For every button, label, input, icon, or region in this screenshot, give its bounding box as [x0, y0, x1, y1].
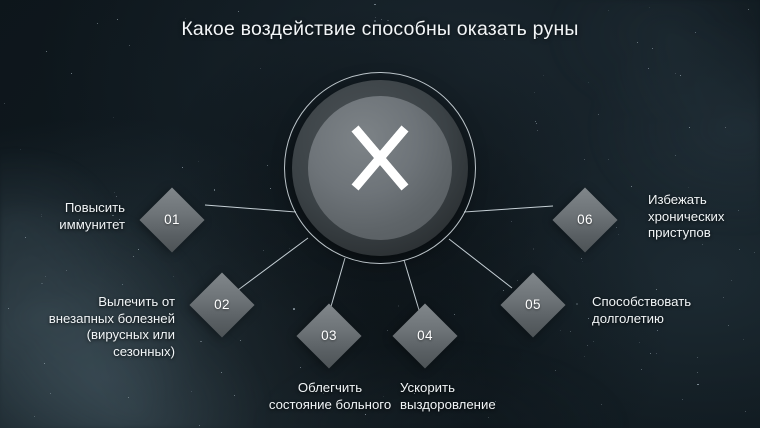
slide-canvas: Какое воздействие способны оказать руны — [0, 0, 760, 428]
connector-line-01 — [205, 205, 296, 212]
diamond-number-02: 02 — [199, 282, 245, 328]
diamond-05[interactable]: 05 — [500, 272, 565, 337]
label-05: Способствовать долголетию — [592, 294, 757, 327]
label-03: Облегчить состояние больного — [240, 380, 420, 413]
label-02: Вылечить от внезапных болезней (вирусных… — [0, 294, 175, 360]
label-01: Повысить иммунитет — [0, 200, 125, 233]
diamond-04[interactable]: 04 — [392, 303, 457, 368]
diamond-number-06: 06 — [562, 197, 608, 243]
connector-line-03 — [330, 258, 345, 310]
diamond-06[interactable]: 06 — [552, 187, 617, 252]
center-circle-ring — [284, 72, 476, 264]
diamond-number-04: 04 — [402, 313, 448, 359]
diamond-number-01: 01 — [149, 197, 195, 243]
connector-line-04 — [404, 260, 419, 310]
label-06: Избежать хронических приступов — [648, 192, 760, 242]
center-circle — [284, 72, 476, 264]
diamond-01[interactable]: 01 — [139, 187, 204, 252]
diamond-02[interactable]: 02 — [189, 272, 254, 337]
label-04: Ускорить выздоровление — [400, 380, 580, 413]
diamond-03[interactable]: 03 — [296, 303, 361, 368]
connector-line-06 — [464, 206, 553, 212]
diamond-number-05: 05 — [510, 282, 556, 328]
diamond-number-03: 03 — [306, 313, 352, 359]
